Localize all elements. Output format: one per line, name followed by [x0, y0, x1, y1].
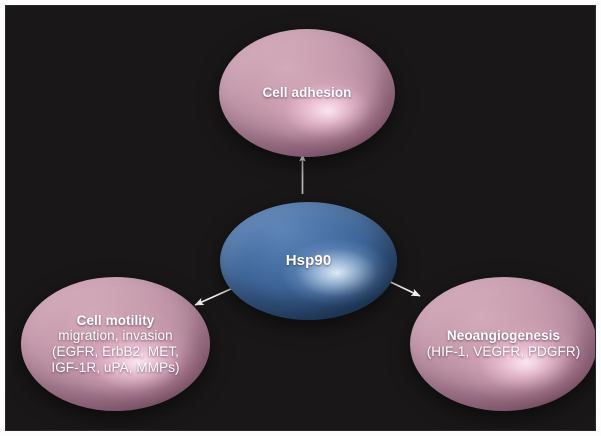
node-cell-motility-title: Cell motility: [77, 313, 155, 329]
node-cell-motility-line4: IGF-1R, uPA, MMPs): [51, 360, 179, 376]
figure-canvas: Cell adhesion Hsp90 Cell motility migrat…: [0, 0, 601, 436]
node-neoangiogenesis[interactable]: Neoangiogenesis (HIF-1, VEGFR, PDGFR): [410, 277, 596, 411]
node-cell-adhesion[interactable]: Cell adhesion: [219, 29, 395, 157]
node-cell-motility-line2: migration, invasion: [58, 328, 172, 344]
node-cell-motility-line3: (EGFR, ErbB2, MET,: [52, 344, 179, 360]
diagram-panel: Cell adhesion Hsp90 Cell motility migrat…: [5, 5, 596, 431]
node-cell-adhesion-label: Cell adhesion: [262, 85, 351, 101]
node-neoangiogenesis-line2: (HIF-1, VEGFR, PDGFR): [427, 344, 581, 360]
arrow-hsp90-to-cell-motility: [195, 288, 233, 305]
node-neoangiogenesis-title: Neoangiogenesis: [447, 328, 560, 344]
node-cell-motility[interactable]: Cell motility migration, invasion (EGFR,…: [21, 277, 210, 411]
node-hsp90-label: Hsp90: [286, 252, 332, 269]
node-hsp90[interactable]: Hsp90: [220, 202, 397, 320]
